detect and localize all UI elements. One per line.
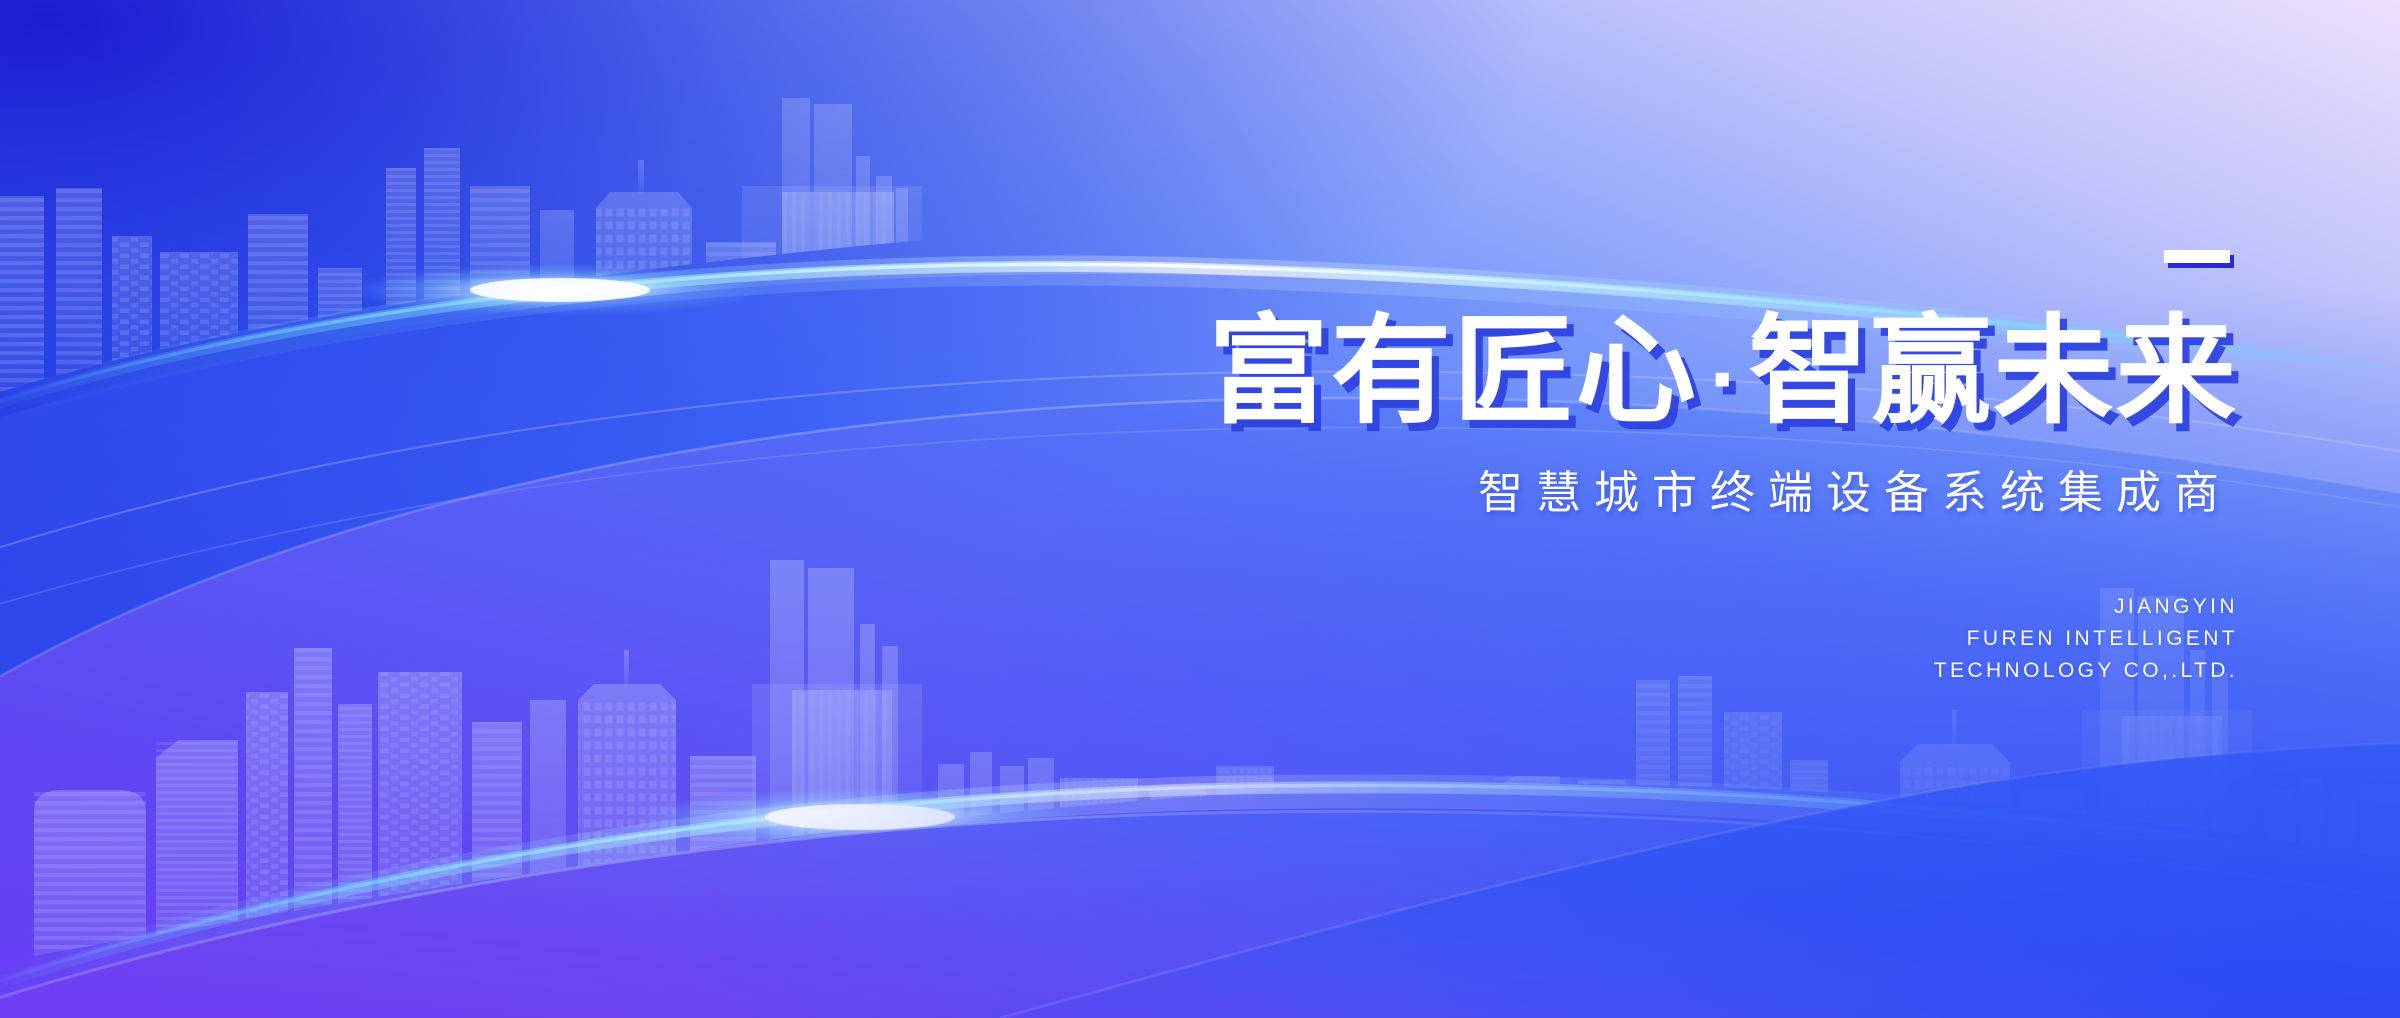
background-artwork [0,0,2400,1018]
marketing-banner: 富有匠心·智赢未来 智慧城市终端设备系统集成商 JIANGYIN FUREN I… [0,0,2400,1018]
